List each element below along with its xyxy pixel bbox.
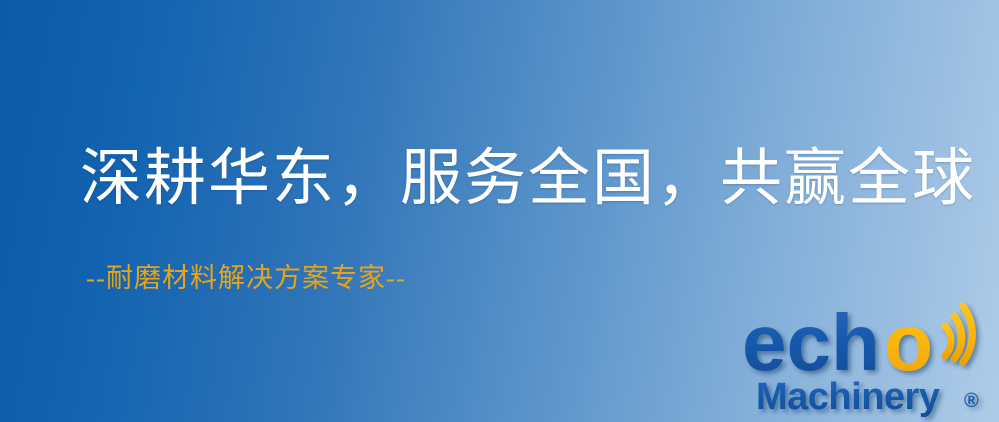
- banner-headline: 深耕华东，服务全国，共赢全球: [80, 148, 976, 210]
- logo-artwork: ech o Machinery ®: [742, 296, 999, 422]
- promo-banner: 深耕华东，服务全国，共赢全球 --耐磨材料解决方案专家--: [0, 0, 999, 422]
- echo-machinery-logo: ech o Machinery ®: [742, 296, 999, 422]
- signal-arc-middle: [954, 316, 962, 359]
- banner-subtitle: --耐磨材料解决方案专家--: [86, 265, 406, 292]
- logo-text-ech: ech: [742, 298, 880, 387]
- logo-text-o: o: [884, 298, 933, 387]
- logo-text-machinery: Machinery: [756, 376, 940, 418]
- signal-arc-inner: [945, 326, 951, 356]
- signal-waves-icon: [945, 306, 972, 362]
- registered-trademark-icon: ®: [964, 390, 979, 412]
